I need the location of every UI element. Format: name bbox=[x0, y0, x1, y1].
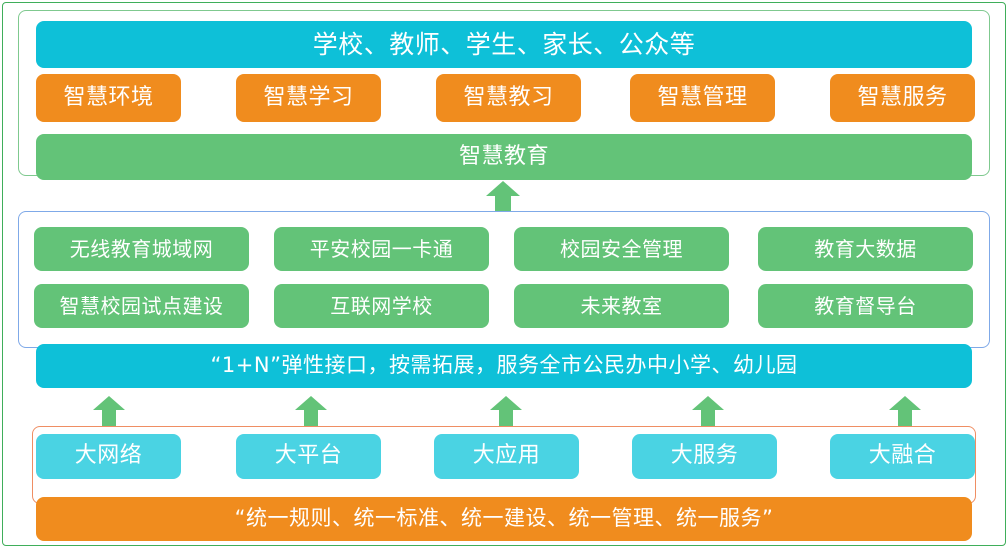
diagram-canvas: 学校、教师、学生、家长、公众等 智慧环境 智慧学习 智慧教习 智慧管理 智慧服务… bbox=[0, 0, 1008, 548]
project-future-classroom: 未来教室 bbox=[514, 284, 729, 328]
elastic-interface-bar: “1+N”弹性接口，按需拓展，服务全市公民办中小学、幼儿园 bbox=[36, 344, 972, 388]
smart-education-bar: 智慧教育 bbox=[36, 134, 972, 180]
project-campus-safety-management: 校园安全管理 bbox=[514, 227, 729, 271]
foundation-big-network: 大网络 bbox=[36, 434, 181, 479]
pillar-smart-teaching: 智慧教习 bbox=[436, 74, 581, 122]
project-wireless-education-man: 无线教育城域网 bbox=[34, 227, 249, 271]
up-arrow-icon bbox=[692, 396, 724, 426]
pillar-smart-environment: 智慧环境 bbox=[36, 74, 181, 122]
up-arrow-icon bbox=[490, 396, 522, 426]
foundation-big-service: 大服务 bbox=[632, 434, 777, 479]
project-safe-campus-card: 平安校园一卡通 bbox=[274, 227, 489, 271]
pillar-smart-learning: 智慧学习 bbox=[236, 74, 381, 122]
up-arrow-icon bbox=[486, 181, 520, 211]
project-internet-school: 互联网学校 bbox=[274, 284, 489, 328]
pillar-smart-management: 智慧管理 bbox=[630, 74, 775, 122]
project-education-supervision-platform: 教育督导台 bbox=[758, 284, 973, 328]
foundation-big-integration: 大融合 bbox=[830, 434, 975, 479]
audience-bar: 学校、教师、学生、家长、公众等 bbox=[36, 21, 972, 68]
up-arrow-icon bbox=[93, 396, 125, 426]
foundation-big-platform: 大平台 bbox=[236, 434, 381, 479]
project-education-big-data: 教育大数据 bbox=[758, 227, 973, 271]
pillar-smart-service: 智慧服务 bbox=[830, 74, 975, 122]
project-smart-campus-pilot: 智慧校园试点建设 bbox=[34, 284, 249, 328]
foundation-big-application: 大应用 bbox=[434, 434, 579, 479]
up-arrow-icon bbox=[295, 396, 327, 426]
up-arrow-icon bbox=[889, 396, 921, 426]
unified-principles-bar: “统一规则、统一标准、统一建设、统一管理、统一服务” bbox=[36, 497, 972, 541]
